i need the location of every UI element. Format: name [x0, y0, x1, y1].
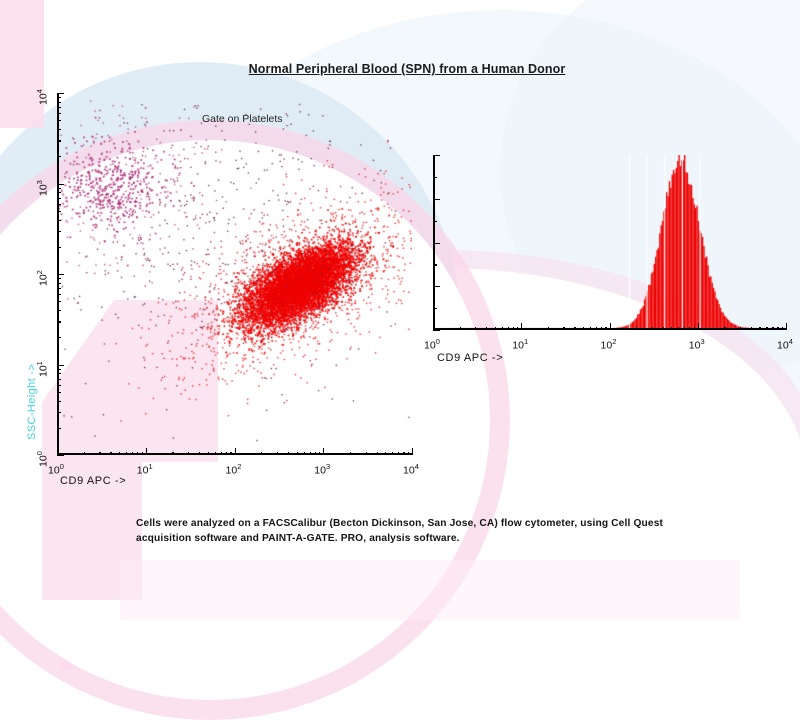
scatter-x-axis-title: CD9 APC ->: [60, 475, 126, 487]
caption-line-1: Cells were analyzed on a FACSCalibur (Be…: [136, 517, 736, 532]
figure-root: Normal Peripheral Blood (SPN) from a Hum…: [0, 0, 800, 600]
histogram-panel: [433, 155, 786, 330]
watermark-pink-strip: [0, 0, 44, 128]
histogram-x-tick-label: 102: [601, 337, 617, 352]
scatter-x-tick-label: 104: [403, 462, 419, 477]
figure-caption: Cells were analyzed on a FACSCalibur (Be…: [136, 517, 736, 546]
caption-line-2: acquisition software and PAINT-A-GATE. P…: [136, 532, 736, 547]
scatter-y-tick-label: 103: [35, 180, 50, 196]
scatter-y-tick-label: 100: [35, 451, 50, 467]
scatter-x-tick-label: 103: [314, 462, 330, 477]
scatter-x-tick-label: 102: [226, 462, 242, 477]
scatter-y-axis-title: SSC-Height ->: [26, 364, 38, 440]
histogram-canvas: [433, 155, 786, 330]
gate-annotation-label: Gate on Platelets: [202, 113, 283, 125]
histogram-x-axis-title: CD9 APC ->: [437, 352, 503, 364]
scatter-y-tick-label: 102: [35, 270, 50, 286]
histogram-x-tick-label: 104: [777, 337, 793, 352]
scatter-x-tick-label: 101: [137, 462, 153, 477]
figure-title: Normal Peripheral Blood (SPN) from a Hum…: [207, 62, 607, 76]
scatter-y-tick-label: 104: [35, 89, 50, 105]
histogram-x-tick-label: 100: [424, 337, 440, 352]
histogram-x-tick-label: 101: [512, 337, 528, 352]
watermark-bottom-tint: [120, 560, 740, 620]
scatter-plot-panel: Gate on Platelets: [57, 93, 412, 455]
histogram-x-tick-label: 103: [689, 337, 705, 352]
scatter-plot-canvas: [57, 93, 412, 455]
